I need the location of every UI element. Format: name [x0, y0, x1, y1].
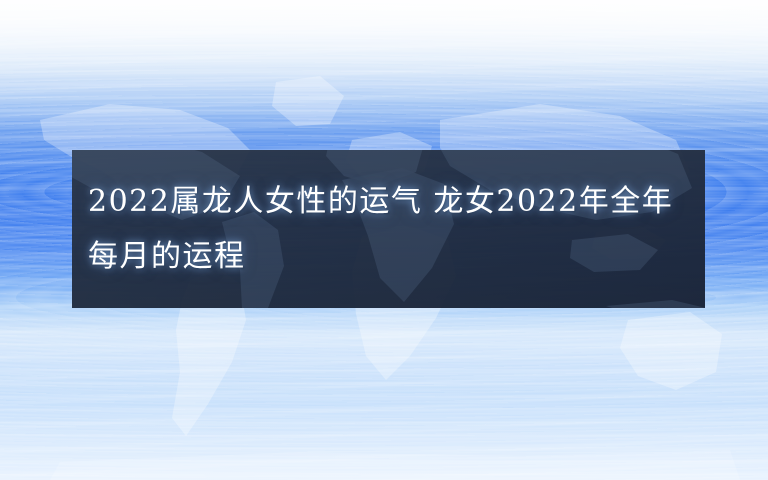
page-title: 2022属龙人女性的运气 龙女2022年全年每月的运程 [88, 174, 695, 284]
title-plate: 2022属龙人女性的运气 龙女2022年全年每月的运程 [72, 150, 705, 308]
banner-canvas: 2022属龙人女性的运气 龙女2022年全年每月的运程 [0, 0, 768, 480]
